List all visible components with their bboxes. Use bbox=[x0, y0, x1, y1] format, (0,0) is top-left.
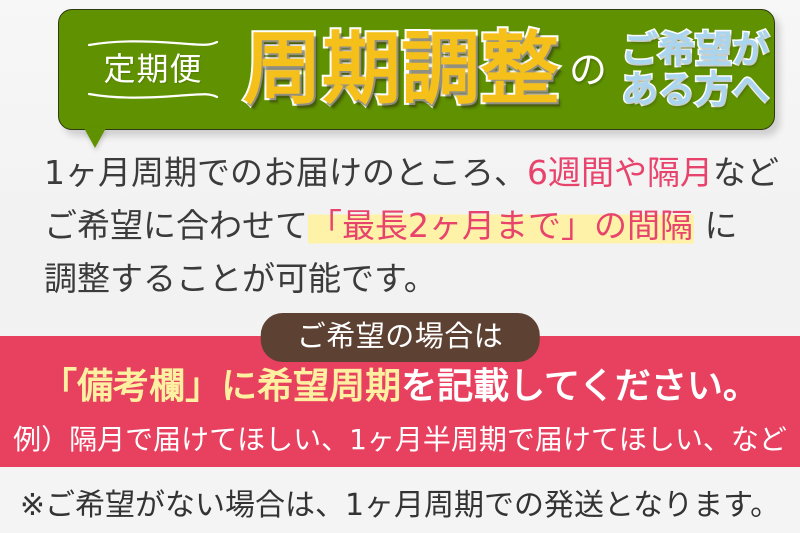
promo-banner: 定期便 周期調整 の ご希望が ある方へ 1ヶ月周期でのお届けのところ、6週間や… bbox=[0, 0, 800, 533]
body-line-2-text-b: に bbox=[694, 206, 738, 245]
body-line-1: 1ヶ月周期でのお届けのところ、6週間や隔月など bbox=[44, 146, 760, 199]
band-example-line: 例）隔月で届けてほしい、1ヶ月半周期で届けてほしい、など bbox=[0, 418, 800, 458]
header-subtitle-block: ご希望が ある方へ bbox=[621, 30, 769, 110]
header-subtitle-line2: ある方へ bbox=[621, 70, 769, 110]
body-line-2-text-a: ご希望に合わせて bbox=[44, 206, 308, 245]
footer-note: ※ご希望がない場合は、1ヶ月周期での発送となります。 bbox=[0, 480, 800, 524]
body-line-1-text-b: など bbox=[713, 153, 779, 192]
band-accent-a: 「備考欄」に bbox=[41, 366, 257, 407]
body-paragraph: 1ヶ月周期でのお届けのところ、6週間や隔月など ご希望に合わせて「最長2ヶ月まで… bbox=[44, 146, 760, 305]
body-line-3: 調整することが可能です。 bbox=[44, 252, 760, 305]
band-plain-text: を記載してください。 bbox=[401, 366, 759, 407]
wavy-rule-bottom-icon bbox=[87, 91, 219, 100]
speech-bubble-tail-icon bbox=[84, 128, 106, 148]
band-accent-b: 希望周期 bbox=[257, 366, 401, 407]
subscription-label: 定期便 bbox=[77, 50, 229, 88]
request-case-badge: ご希望の場合は bbox=[261, 313, 540, 362]
header-particle: の bbox=[569, 51, 607, 89]
wavy-rule-top-icon bbox=[87, 39, 219, 48]
body-line-2: ご希望に合わせて「最長2ヶ月まで」の間隔 に bbox=[44, 199, 760, 252]
subscription-label-block: 定期便 bbox=[77, 37, 229, 101]
band-primary-line: 「備考欄」に希望周期を記載してください。 bbox=[0, 366, 800, 407]
header-green-box: 定期便 周期調整 の ご希望が ある方へ bbox=[58, 9, 775, 130]
body-line-1-text-a: 1ヶ月周期でのお届けのところ、 bbox=[44, 153, 527, 192]
header-main-title: 周期調整 bbox=[243, 30, 559, 109]
body-line-1-accent: 6週間や隔月 bbox=[527, 153, 713, 192]
header-subtitle-line1: ご希望が bbox=[621, 30, 769, 70]
body-line-2-highlight: 「最長2ヶ月まで」の間隔 bbox=[308, 206, 694, 245]
